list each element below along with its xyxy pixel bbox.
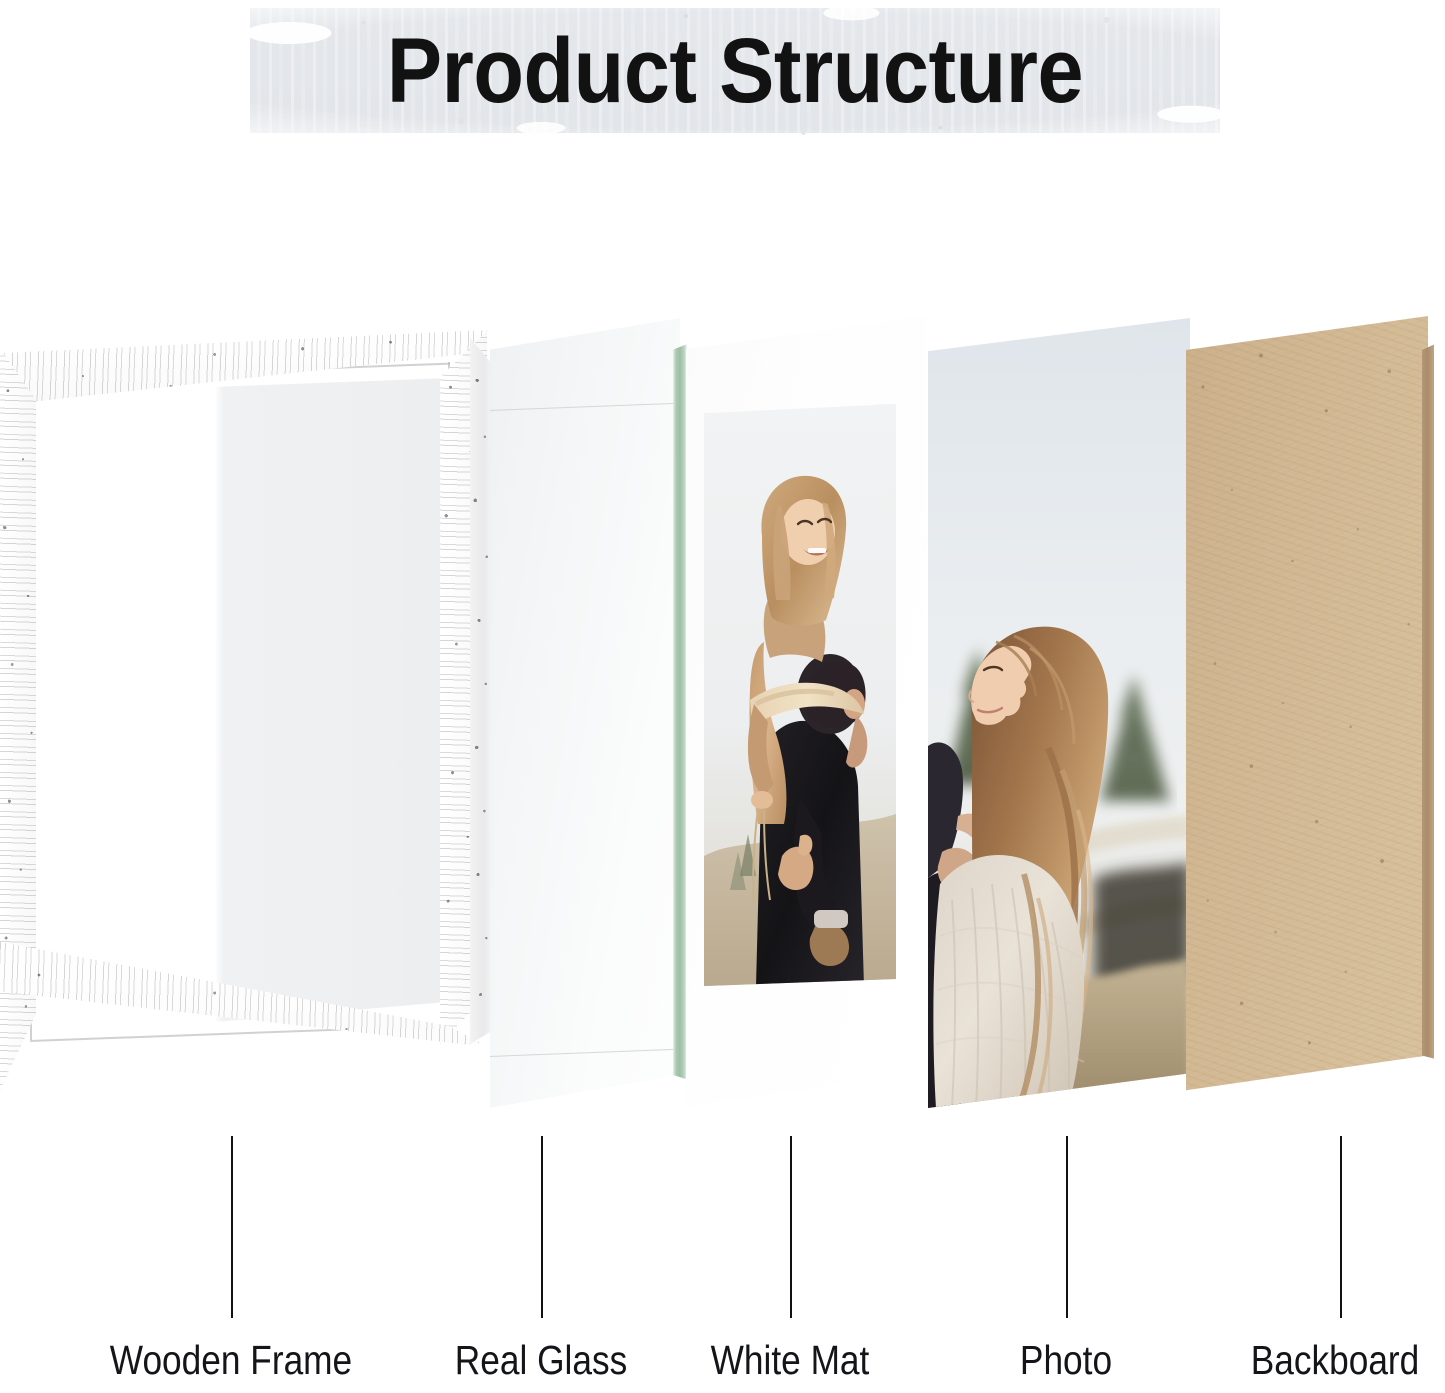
leader-line-backboard: [1340, 1136, 1342, 1318]
label-white-mat: White Mat: [678, 1340, 902, 1381]
label-photo: Photo: [980, 1340, 1152, 1381]
backboard-edge-thickness: [1422, 316, 1434, 1106]
title-banner: Product Structure: [250, 8, 1220, 133]
wooden-frame-opening: [30, 378, 450, 1038]
wooden-frame-face: [0, 330, 500, 1100]
layer-photo: [928, 318, 1198, 1108]
label-wooden-frame: Wooden Frame: [59, 1340, 403, 1381]
mat-face: [686, 316, 926, 1106]
mat-window-photo: [704, 404, 896, 986]
mat-window-opening: [704, 404, 896, 986]
leader-line-photo: [1066, 1136, 1068, 1318]
layer-real-glass: [490, 318, 695, 1108]
photo-face: [928, 318, 1190, 1108]
layer-white-mat: [686, 316, 936, 1106]
page-title: Product Structure: [299, 8, 1172, 133]
glass-reflection-streak-bottom: [490, 1049, 680, 1057]
backboard-face: [1186, 316, 1428, 1106]
leader-line-real-glass: [541, 1136, 543, 1318]
photo-image: [928, 318, 1190, 1108]
layer-backboard: [1186, 316, 1442, 1106]
glass-reflection-streak-top: [490, 403, 680, 411]
leader-line-wooden-frame: [231, 1136, 233, 1318]
glass-face: [490, 318, 680, 1108]
label-backboard: Backboard: [1210, 1340, 1445, 1381]
product-structure-infographic: Product Structure: [0, 0, 1445, 1393]
glass-green-edge: [673, 318, 687, 1108]
label-real-glass: Real Glass: [412, 1340, 670, 1381]
leader-line-white-mat: [790, 1136, 792, 1318]
layer-wooden-frame: [0, 330, 500, 1100]
